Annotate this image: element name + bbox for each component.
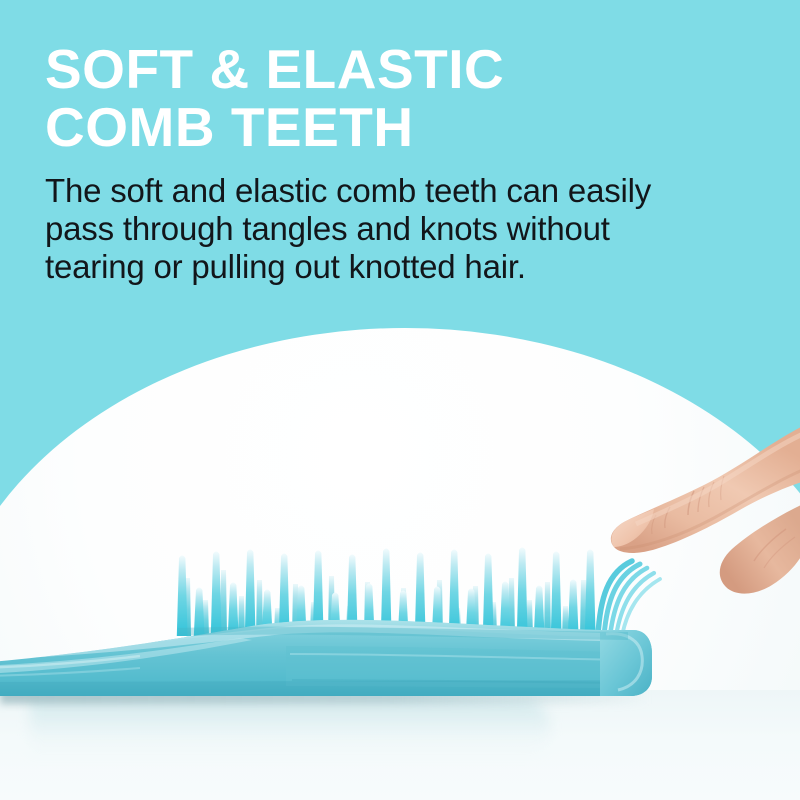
hand-pressing-teeth xyxy=(590,425,800,625)
second-finger xyxy=(720,503,800,594)
page-title: SOFT & ELASTIC COMB TEETH xyxy=(45,40,745,156)
product-feature-card: SOFT & ELASTIC COMB TEETH The soft and e… xyxy=(0,0,800,800)
copy-block: SOFT & ELASTIC COMB TEETH The soft and e… xyxy=(45,40,745,286)
description-text: The soft and elastic comb teeth can easi… xyxy=(45,172,745,286)
